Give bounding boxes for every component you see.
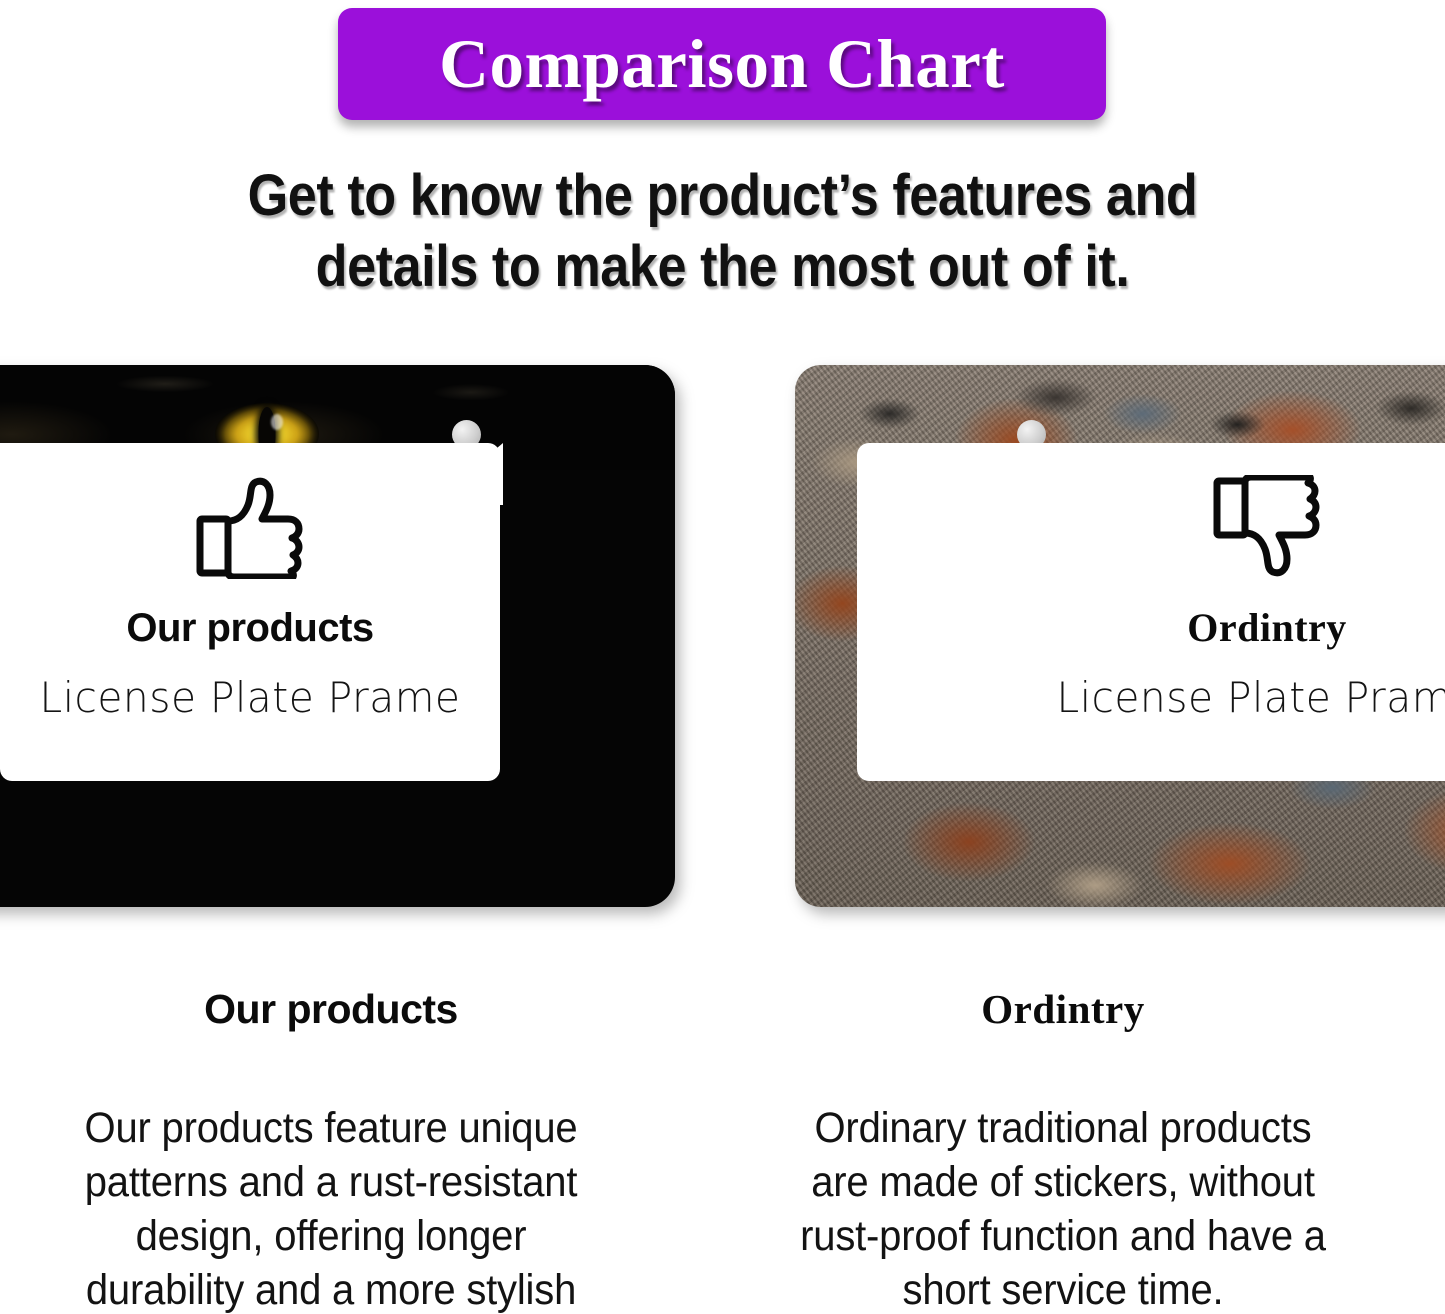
column-body-text: Our products feature unique patterns and… [52,1101,610,1314]
page-title: Comparison Chart [439,25,1005,104]
column-heading: Our products [204,985,458,1033]
ordinary-product-license-plate-frame: Ordintry License Plate Prame [795,365,1445,907]
subtitle-line-2: details to make the most out of it. [72,231,1373,302]
comparison-column-our-products: Our products Our products feature unique… [0,985,722,1314]
comparison-chart-page: Comparison Chart Get to know the product… [0,0,1445,1314]
frame-product-label: License Plate Prame [1057,673,1445,723]
frame-brand-label: Our products [126,605,373,651]
subtitle-line-1: Get to know the product’s features and [72,160,1373,231]
frame-product-label: License Plate Prame [40,673,461,723]
frame-window-left: Our products License Plate Prame [0,443,500,781]
frame-brand-label: Ordintry [1187,605,1347,651]
title-banner: Comparison Chart [338,8,1106,120]
column-body-text: Ordinary traditional products are made o… [784,1101,1342,1314]
frame-window-content: Our products License Plate Prame [0,443,500,781]
our-product-license-plate-frame: Our products License Plate Prame [0,365,675,907]
product-frames-row: Our products License Plate Prame [0,355,1445,925]
thumbs-down-icon [1211,475,1323,579]
thumbs-up-icon [194,475,306,579]
frame-window-content: Ordintry License Plate Prame [857,443,1445,781]
column-heading: Ordintry [981,985,1144,1033]
comparison-columns: Our products Our products feature unique… [0,985,1445,1314]
frame-window-right: Ordintry License Plate Prame [857,443,1445,781]
subtitle: Get to know the product’s features and d… [72,160,1373,302]
comparison-column-ordintry: Ordintry Ordinary traditional products a… [722,985,1444,1314]
